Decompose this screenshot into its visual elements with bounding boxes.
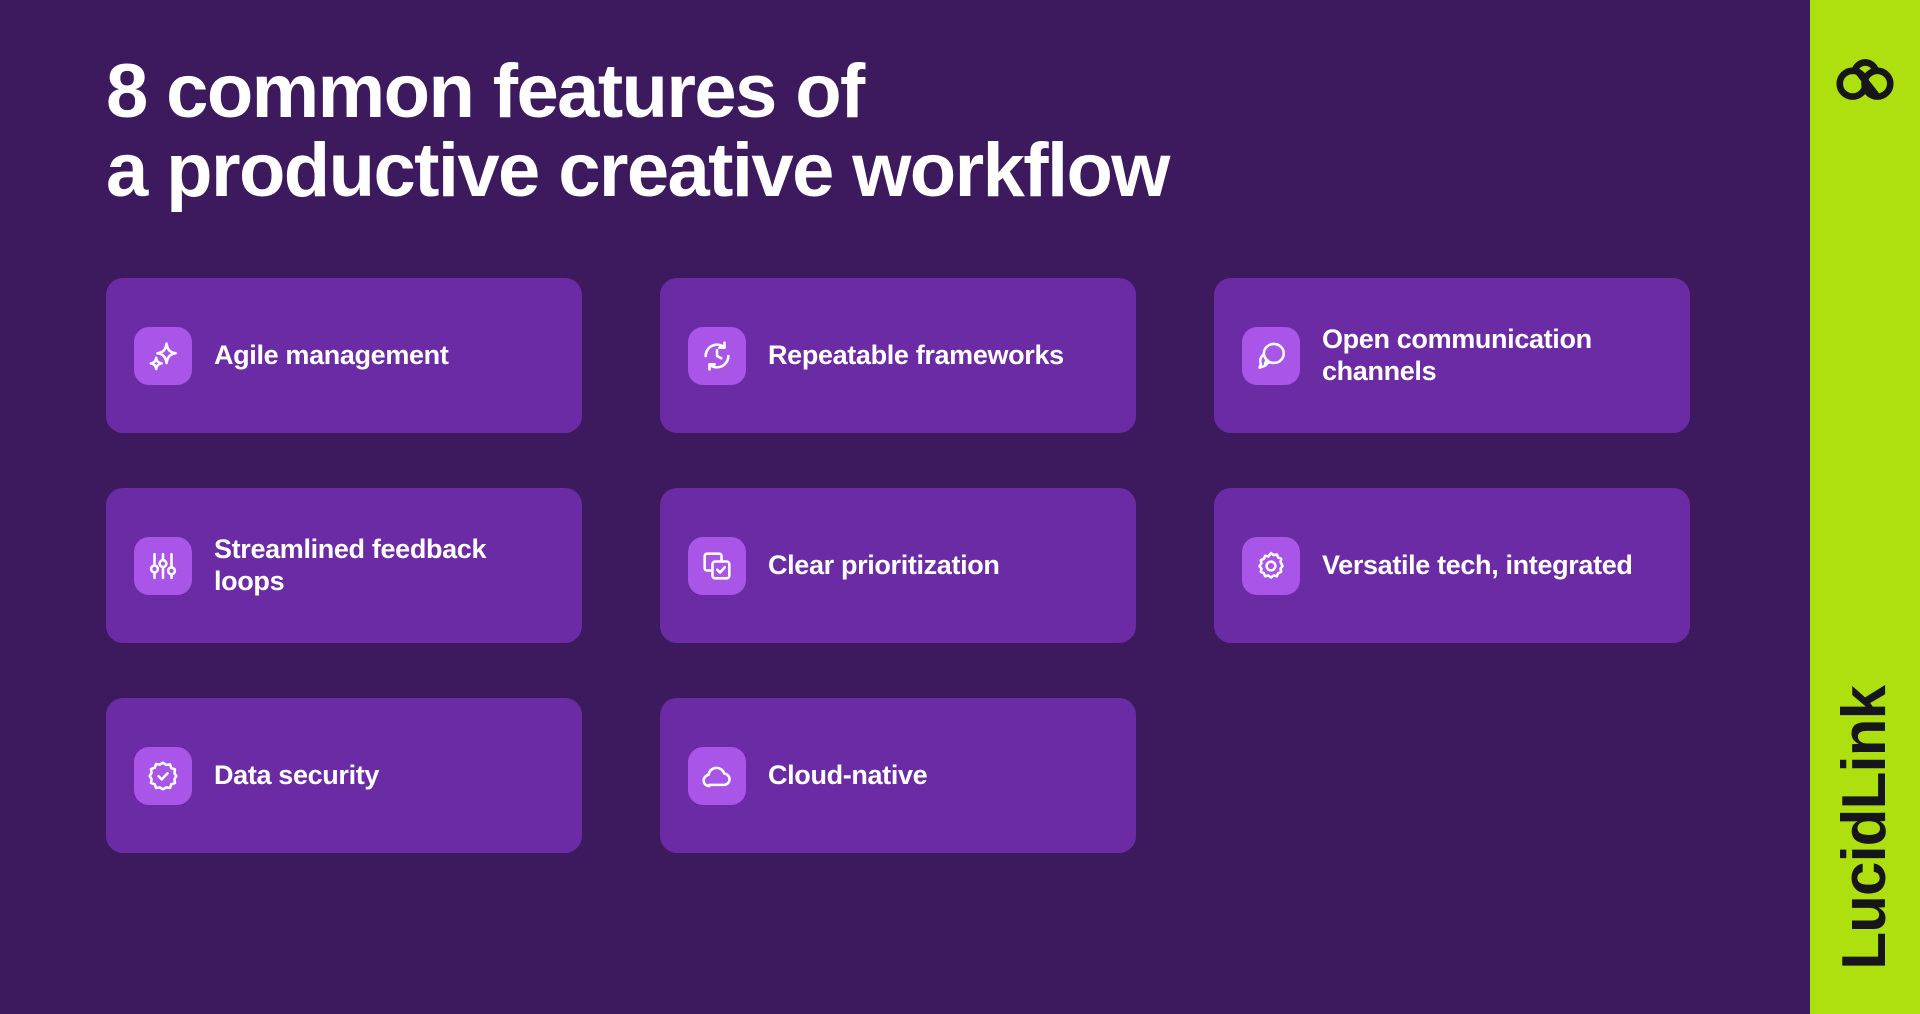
feature-card-data-security[interactable]: Data security [106, 698, 582, 853]
page-title-line-1: 8 common features of [106, 52, 1666, 131]
cloud-icon [688, 747, 746, 805]
brand-wordmark: LucidLink [1834, 686, 1896, 970]
feature-card-label: Agile management [214, 340, 448, 372]
main-content-area: 8 common features of a productive creati… [0, 0, 1810, 1014]
verified-badge-icon [134, 747, 192, 805]
clock-refresh-icon [688, 327, 746, 385]
lucidlink-logo-icon [1832, 44, 1898, 110]
feature-card-label: Data security [214, 760, 379, 792]
feature-card-label: Versatile tech, integrated [1322, 550, 1633, 582]
feature-card-agile-management[interactable]: Agile management [106, 278, 582, 433]
feature-card-open-communication-channels[interactable]: Open communication channels [1214, 278, 1690, 433]
feature-card-streamlined-feedback-loops[interactable]: Streamlined feedback loops [106, 488, 582, 643]
brand-rail: LucidLink [1810, 0, 1920, 1014]
feature-card-label: Repeatable frameworks [768, 340, 1064, 372]
sparkles-icon [134, 327, 192, 385]
slide-root: 8 common features of a productive creati… [0, 0, 1920, 1014]
feature-card-label: Clear prioritization [768, 550, 1000, 582]
page-title-line-2: a productive creative workflow [106, 131, 1666, 210]
sliders-icon [134, 537, 192, 595]
feature-card-repeatable-frameworks[interactable]: Repeatable frameworks [660, 278, 1136, 433]
feature-card-versatile-tech-integrated[interactable]: Versatile tech, integrated [1214, 488, 1690, 643]
copy-check-icon [688, 537, 746, 595]
feature-card-grid: Agile management Repeatable frameworks [106, 278, 1692, 853]
feature-card-cloud-native[interactable]: Cloud-native [660, 698, 1136, 853]
feature-card-label: Cloud-native [768, 760, 927, 792]
chat-bubbles-icon [1242, 327, 1300, 385]
gear-icon [1242, 537, 1300, 595]
feature-card-clear-prioritization[interactable]: Clear prioritization [660, 488, 1136, 643]
feature-card-label: Open communication channels [1322, 324, 1662, 387]
feature-card-label: Streamlined feedback loops [214, 534, 554, 597]
page-title: 8 common features of a productive creati… [106, 52, 1666, 210]
